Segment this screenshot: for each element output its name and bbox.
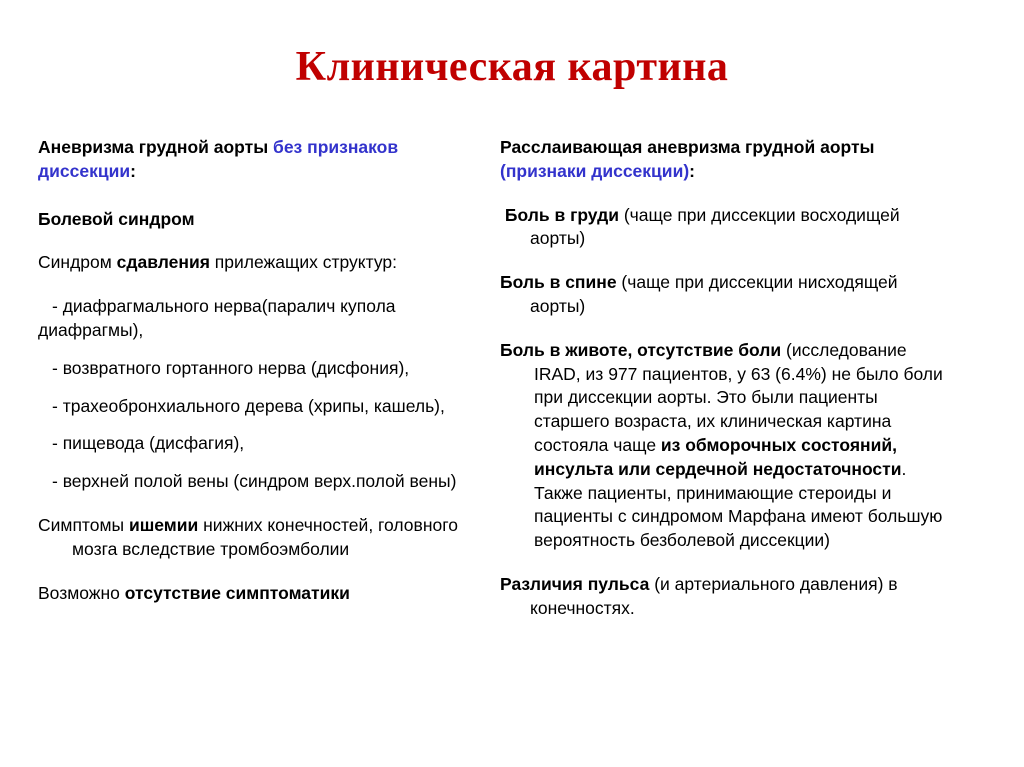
symptom-back-pain: Боль в спине (чаще при диссекции нисходя…	[500, 271, 948, 319]
ischemia-symptoms: Симптомы ишемии нижних конечностей, голо…	[38, 514, 468, 562]
asymptomatic-emphasis: отсутствие симптоматики	[125, 583, 350, 603]
symptom-chest-pain: Боль в груди (чаще при диссекции восходи…	[500, 204, 948, 252]
right-heading-plain: Расслаивающая аневризма грудной аорты	[500, 137, 874, 157]
abdominal-pain-label: Боль в животе, отсутствие боли	[500, 340, 781, 360]
symptom-pulse-difference: Различия пульса (и артериального давлени…	[500, 573, 948, 621]
ischemia-prefix: Симптомы	[38, 515, 129, 535]
symptom-abdominal-pain: Боль в животе, отсутствие боли (исследов…	[500, 339, 948, 553]
chest-pain-label: Боль в груди	[505, 205, 619, 225]
compression-emphasis: сдавления	[117, 252, 210, 272]
page-title: Клиническая картина	[0, 44, 1024, 90]
right-heading-colon: :	[689, 161, 695, 181]
compression-syndrome: Синдром сдавления прилежащих структур:	[38, 251, 468, 275]
left-heading-plain: Аневризма грудной аорты	[38, 137, 273, 157]
right-heading-emphasis: (признаки диссекции)	[500, 161, 689, 181]
compression-item: - пищевода (дисфагия),	[38, 432, 468, 456]
right-heading: Расслаивающая аневризма грудной аорты (п…	[500, 136, 948, 184]
compression-suffix: прилежащих структур:	[210, 252, 397, 272]
back-pain-label: Боль в спине	[500, 272, 617, 292]
ischemia-emphasis: ишемии	[129, 515, 198, 535]
right-column: Расслаивающая аневризма грудной аорты (п…	[500, 136, 948, 621]
slide: Клиническая картина Аневризма грудной ао…	[0, 0, 1024, 767]
asymptomatic-note: Возможно отсутствие симптоматики	[38, 582, 468, 606]
pulse-difference-label: Различия пульса	[500, 574, 649, 594]
compression-item: - диафрагмального нерва(паралич купола д…	[38, 295, 468, 343]
compression-prefix: Синдром	[38, 252, 117, 272]
compression-item: - трахеобронхиального дерева (хрипы, каш…	[38, 395, 468, 419]
left-heading: Аневризма грудной аорты без признаков ди…	[38, 136, 468, 184]
left-column: Аневризма грудной аорты без признаков ди…	[38, 136, 468, 605]
pain-syndrome-label: Болевой синдром	[38, 208, 468, 232]
left-heading-colon: :	[130, 161, 136, 181]
asymptomatic-prefix: Возможно	[38, 583, 125, 603]
compression-item: - возвратного гортанного нерва (дисфония…	[38, 357, 468, 381]
compression-item: - верхней полой вены (синдром верх.полой…	[38, 470, 468, 494]
